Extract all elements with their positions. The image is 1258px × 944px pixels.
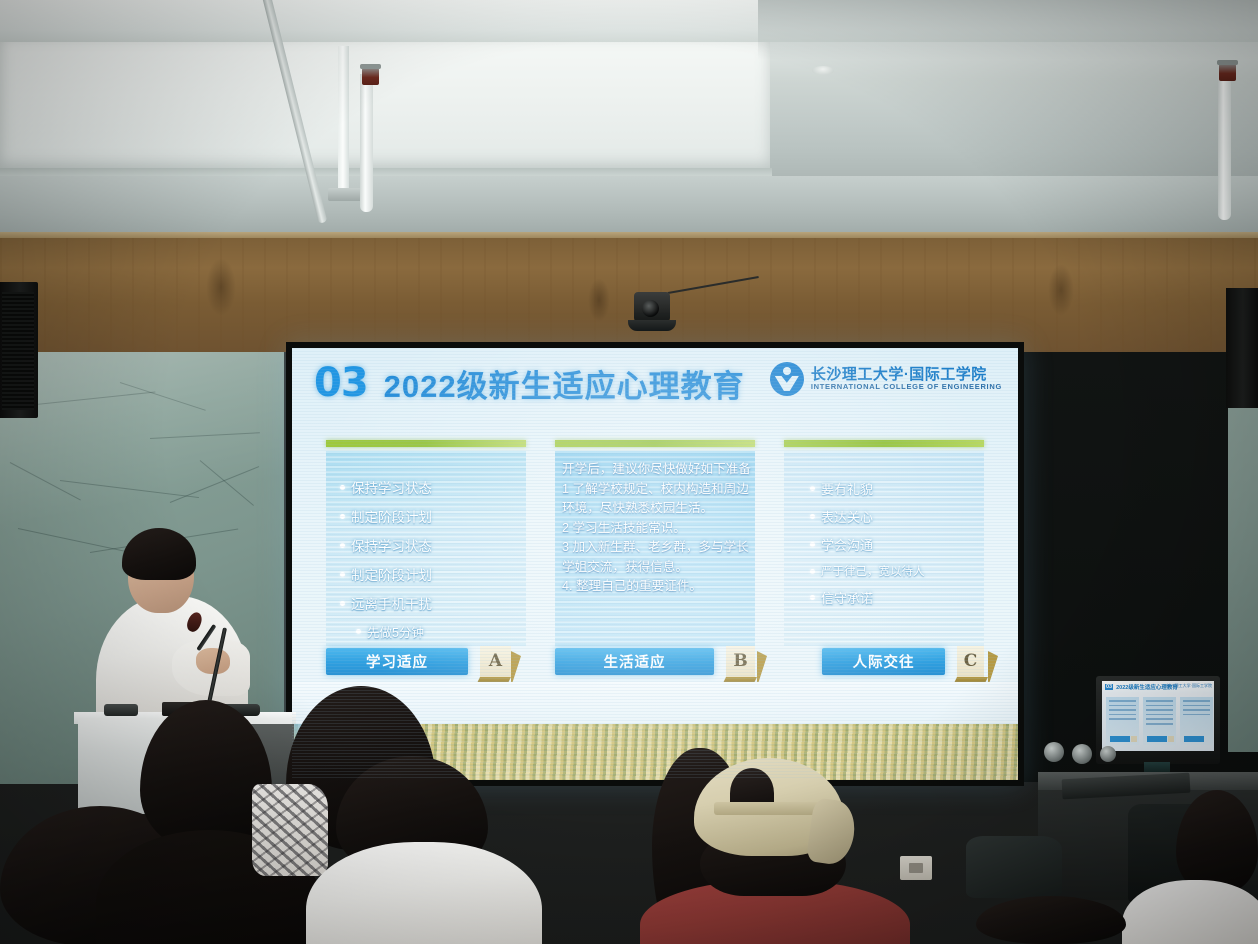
- wall-outlet-icon: [900, 856, 932, 880]
- wood-knot: [206, 258, 236, 316]
- smoke-detector-icon: [812, 66, 834, 75]
- ceiling: [0, 0, 1258, 240]
- monitor-panel-pill: [1147, 736, 1167, 742]
- list-item: 制定阶段计划: [340, 564, 518, 584]
- sprinkler-head-icon: [1219, 64, 1236, 81]
- ceiling-hanger-bracket: [338, 46, 349, 196]
- college-logo: 长沙理工大学·国际工学院 INTERNATIONAL COLLEGE OF EN…: [770, 362, 1002, 396]
- list-item: 信守承诺: [810, 588, 976, 607]
- bullet-dot-icon: [810, 514, 815, 519]
- list-item-label: 制定阶段计划: [351, 506, 432, 526]
- list-item: 严于律己，宽以待人: [810, 563, 976, 579]
- wall-wood-panel: [0, 238, 1258, 358]
- monitor-panel-pill: [1110, 736, 1130, 742]
- text-line: 3 加入新生群、老乡群，多与学长: [562, 538, 748, 558]
- camera-base: [628, 320, 676, 331]
- list-item-label: 保持学习状态: [351, 477, 432, 497]
- panel-b-lines: 开学后，建议你尽快做好如下准备 1 了解学校规定、校内构造和周边 环境，尽快熟悉…: [555, 451, 755, 597]
- camera-lens-icon: [642, 300, 659, 317]
- bullet-dot-icon: [356, 629, 361, 634]
- list-item-label: 要有礼貌: [821, 479, 873, 498]
- monitor-panel-tag: [1131, 736, 1137, 742]
- college-emblem-icon: [770, 362, 804, 396]
- text-line: 环境，尽快熟悉校园生活。: [562, 499, 748, 519]
- bullet-dot-icon: [810, 542, 815, 547]
- speaker-grille: [2, 292, 34, 410]
- panel-c-bullets: 要有礼貌 表达关心 学会沟通 严于律己，宽以待人: [784, 451, 984, 607]
- text-line: 4. 整理自己的重要证件。: [562, 577, 748, 597]
- logo-text-cn: 长沙理工大学·国际工学院: [811, 367, 1002, 383]
- ceiling-recess: [0, 42, 770, 170]
- list-item: 先做5分钟: [340, 622, 518, 641]
- podium-object: [104, 704, 138, 716]
- panel-a-label[interactable]: 学习适应: [326, 648, 468, 675]
- panel-body: 开学后，建议你尽快做好如下准备 1 了解学校规定、校内构造和周边 环境，尽快熟悉…: [555, 451, 755, 647]
- list-item: 远离手机干扰: [340, 593, 518, 613]
- slide-number: 03: [314, 360, 368, 406]
- text-line: 学姐交流，获得信息。: [562, 558, 748, 578]
- sprinkler-cap-icon: [360, 64, 381, 69]
- sprinkler-pipe-icon: [1218, 72, 1231, 220]
- panel-b-tag: B: [726, 646, 755, 677]
- ceiling-shadow: [758, 0, 1258, 60]
- panel-body: 保持学习状态 制定阶段计划 保持学习状态 制定阶段计划: [326, 451, 526, 647]
- bullet-dot-icon: [810, 595, 815, 600]
- monitor-panel: [1180, 697, 1213, 745]
- text-line: 2 学习生活技能常识。: [562, 519, 748, 539]
- monitor-panel-pill: [1184, 736, 1204, 742]
- whiteboard-glare: [0, 352, 292, 552]
- text-line: 开学后，建议你尽快做好如下准备: [562, 460, 748, 480]
- list-item-label: 制定阶段计划: [351, 564, 432, 584]
- monitor-slide-header: 03 2022级新生适应心理教育 长沙理工大学·国际工学院: [1102, 681, 1214, 693]
- panel-topbar: [784, 440, 984, 447]
- bullet-dot-icon: [340, 572, 345, 577]
- monitor-slide-logo: 长沙理工大学·国际工学院: [1167, 683, 1212, 689]
- panel-a-tag: A: [480, 646, 511, 677]
- label-group-b: 生活适应 B: [555, 644, 755, 678]
- panel-body: 要有礼貌 表达关心 学会沟通 严于律己，宽以待人: [784, 451, 984, 647]
- list-item: 表达关心: [810, 507, 976, 526]
- panel-c-label[interactable]: 人际交往: [822, 648, 945, 675]
- bullet-dot-icon: [810, 569, 815, 574]
- wood-knot: [588, 278, 610, 322]
- cap-strap: [714, 802, 826, 815]
- slide-label-row: 学习适应 A 生活适应 B 人际交往 C: [292, 644, 1018, 678]
- monitor-panel: [1106, 697, 1139, 745]
- list-item-label: 表达关心: [821, 507, 873, 526]
- logo-text-en: INTERNATIONAL COLLEGE OF ENGINEERING: [811, 383, 1002, 391]
- list-item: 学会沟通: [810, 535, 976, 554]
- list-item-label: 严于律己，宽以待人: [821, 563, 925, 579]
- list-item: 要有礼貌: [810, 479, 976, 498]
- bullet-dot-icon: [810, 486, 815, 491]
- sprinkler-cap-icon: [1217, 60, 1238, 65]
- bullet-dot-icon: [340, 543, 345, 548]
- bullet-dot-icon: [340, 514, 345, 519]
- sprinkler-head-icon: [362, 68, 379, 85]
- list-item-label: 远离手机干扰: [351, 593, 432, 613]
- list-item-label: 信守承诺: [821, 588, 873, 607]
- bullet-dot-icon: [340, 485, 345, 490]
- sprinkler-pipe-icon: [360, 74, 373, 212]
- whiteboard-right: [1228, 352, 1258, 752]
- control-knob-icon[interactable]: [1072, 744, 1092, 764]
- wall-speaker-right: [1226, 288, 1258, 408]
- ceiling-hanger-foot: [328, 188, 362, 201]
- panel-b-label[interactable]: 生活适应: [555, 648, 714, 675]
- monitor-screen: 03 2022级新生适应心理教育 长沙理工大学·国际工学院: [1102, 681, 1214, 751]
- list-item: 保持学习状态: [340, 477, 518, 497]
- list-item-label: 先做5分钟: [367, 622, 424, 641]
- panel-a-bullets: 保持学习状态 制定阶段计划 保持学习状态 制定阶段计划: [326, 451, 526, 641]
- panel-c-tag: C: [957, 646, 984, 677]
- lecture-hall-photo: 03 2022级新生适应心理教育 长沙理工大学·国际工学院 INTERNATIO…: [0, 0, 1258, 944]
- control-knob-icon[interactable]: [1100, 746, 1116, 762]
- wood-knot: [1048, 264, 1074, 316]
- list-item-label: 学会沟通: [821, 535, 873, 554]
- monitor-panel: [1143, 697, 1176, 745]
- list-item: 保持学习状态: [340, 535, 518, 555]
- bag: [966, 836, 1062, 898]
- panel-topbar: [555, 440, 755, 447]
- monitor-panel-tag: [1168, 736, 1174, 742]
- slide-title: 2022级新生适应心理教育: [384, 361, 745, 406]
- control-knob-icon[interactable]: [1044, 742, 1064, 762]
- label-group-a: 学习适应 A: [326, 644, 526, 678]
- bullet-dot-icon: [340, 601, 345, 606]
- label-group-c: 人际交往 C: [784, 644, 984, 678]
- monitor-slide-panels: [1106, 697, 1213, 745]
- monitor-slide-number: 03: [1105, 684, 1113, 690]
- list-item: 制定阶段计划: [340, 506, 518, 526]
- audience-floral-shirt: [252, 784, 328, 876]
- text-line: 1 了解学校规定、校内构造和周边: [562, 480, 748, 500]
- list-item-label: 保持学习状态: [351, 535, 432, 555]
- panel-topbar: [326, 440, 526, 447]
